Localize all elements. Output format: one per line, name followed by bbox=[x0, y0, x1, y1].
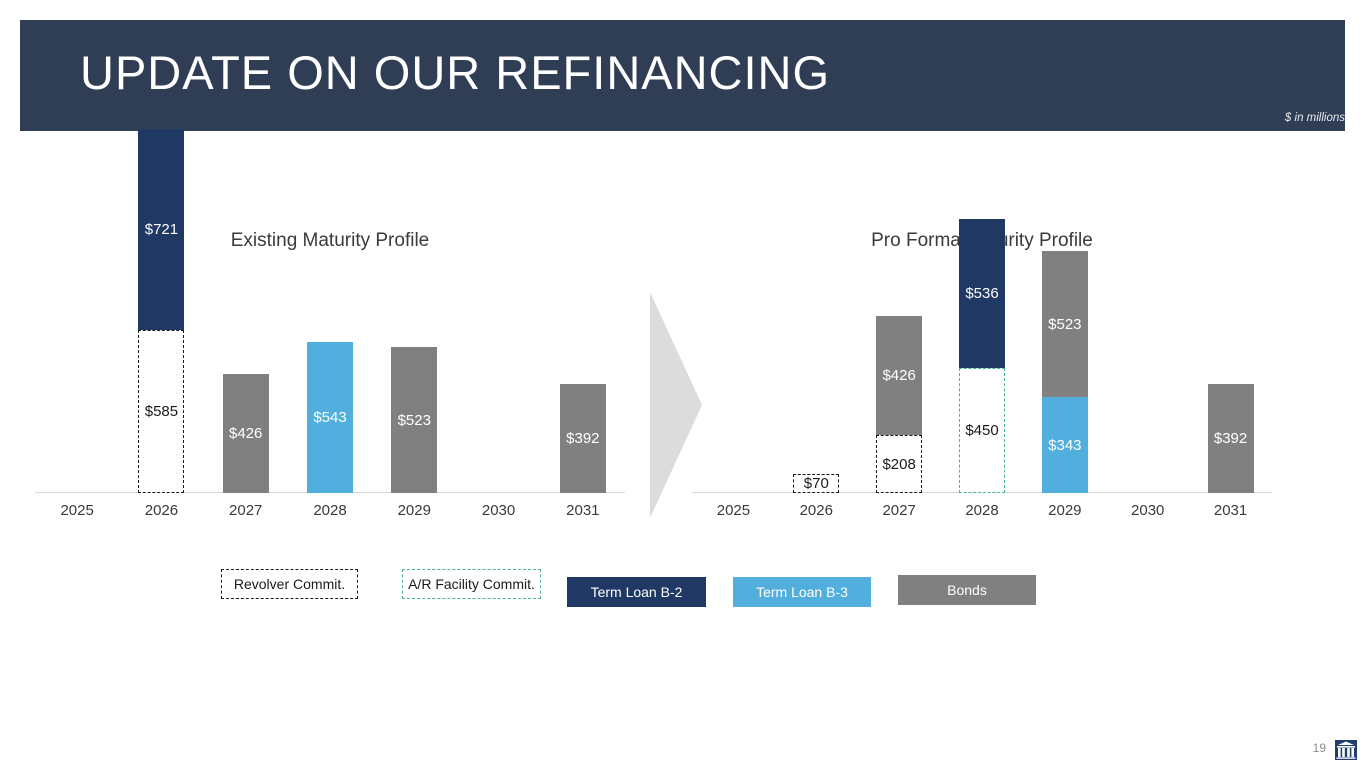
legend-item-term-loan-b-3[interactable]: Term Loan B-3 bbox=[733, 577, 871, 607]
bar-segment-2028-term-loan-b-2[interactable]: $536 bbox=[959, 219, 1005, 368]
bar-segment-2027-bonds[interactable]: $426 bbox=[876, 316, 922, 435]
legend-item-label: Term Loan B-2 bbox=[591, 584, 683, 600]
bar-segment-2028-term-loan-b-3[interactable]: $543 bbox=[307, 342, 353, 493]
bar-category-2028: $5432028 bbox=[290, 260, 370, 493]
bar-segment-2027-revolver-commit[interactable]: $208 bbox=[876, 435, 922, 493]
bar-category-2027: $208$4262027 bbox=[859, 260, 939, 493]
bar-value-label: $208 bbox=[882, 457, 915, 472]
x-axis-tick-2028: 2028 bbox=[290, 502, 370, 519]
x-axis-tick-2030: 2030 bbox=[1108, 502, 1188, 519]
bar-value-label: $536 bbox=[965, 286, 998, 301]
bar-category-2031: $3922031 bbox=[1191, 260, 1271, 493]
legend-item-bonds[interactable]: Bonds bbox=[898, 575, 1036, 605]
x-axis-tick-2026: 2026 bbox=[121, 502, 201, 519]
bar-value-label: $70 bbox=[804, 476, 829, 491]
bar-segment-2031-bonds[interactable]: $392 bbox=[560, 384, 606, 493]
page-title: UPDATE ON OUR REFINANCING bbox=[80, 48, 830, 97]
bar-stack-2031[interactable]: $392 bbox=[560, 384, 606, 493]
slide: UPDATE ON OUR REFINANCING $ in millions … bbox=[0, 0, 1365, 768]
bar-value-label: $721 bbox=[145, 222, 178, 237]
bar-value-label: $523 bbox=[398, 413, 431, 428]
bar-value-label: $543 bbox=[313, 410, 346, 425]
bar-stack-2027[interactable]: $426 bbox=[223, 374, 269, 493]
bar-segment-2026-revolver-commit[interactable]: $70 bbox=[793, 474, 839, 493]
bar-stack-2028[interactable]: $543 bbox=[307, 342, 353, 493]
bar-category-2025: 2025 bbox=[37, 260, 117, 493]
bar-segment-2027-bonds[interactable]: $426 bbox=[223, 374, 269, 493]
bar-category-2025: 2025 bbox=[693, 260, 773, 493]
bar-category-2026: $585$7212026 bbox=[121, 260, 201, 493]
bar-value-label: $392 bbox=[566, 431, 599, 446]
x-axis-tick-2026: 2026 bbox=[776, 502, 856, 519]
legend-item-term-loan-b-2[interactable]: Term Loan B-2 bbox=[567, 577, 706, 607]
page-number: 19 bbox=[1313, 741, 1326, 755]
bar-value-label: $426 bbox=[882, 368, 915, 383]
bar-segment-2031-bonds[interactable]: $392 bbox=[1208, 384, 1254, 493]
x-axis-tick-2027: 2027 bbox=[206, 502, 286, 519]
bar-category-2029: $343$5232029 bbox=[1025, 260, 1105, 493]
bar-category-2028: $450$5362028 bbox=[942, 260, 1022, 493]
bar-segment-2029-bonds[interactable]: $523 bbox=[1042, 251, 1088, 397]
company-logo-icon bbox=[1335, 740, 1357, 760]
bar-segment-2029-term-loan-b-3[interactable]: $343 bbox=[1042, 397, 1088, 493]
bar-category-2026: $702026 bbox=[776, 260, 856, 493]
bar-category-2027: $4262027 bbox=[206, 260, 286, 493]
plot-area: 2025$702026$208$4262027$450$5362028$343$… bbox=[692, 260, 1272, 493]
bar-stack-2026[interactable]: $70 bbox=[793, 474, 839, 493]
bar-stack-2031[interactable]: $392 bbox=[1208, 384, 1254, 493]
legend-item-label: Bonds bbox=[947, 582, 987, 598]
bar-value-label: $343 bbox=[1048, 438, 1081, 453]
x-axis-tick-2025: 2025 bbox=[37, 502, 117, 519]
legend-item-label: Revolver Commit. bbox=[234, 576, 345, 592]
bar-stack-2028[interactable]: $450$536 bbox=[959, 219, 1005, 493]
bar-segment-2026-term-loan-b-2[interactable]: $721 bbox=[138, 129, 184, 330]
x-axis-tick-2028: 2028 bbox=[942, 502, 1022, 519]
x-axis-tick-2030: 2030 bbox=[459, 502, 539, 519]
legend-item-a-r-facility-commit[interactable]: A/R Facility Commit. bbox=[402, 569, 541, 599]
plot-area: 2025$585$7212026$4262027$5432028$5232029… bbox=[35, 260, 625, 493]
chart-title: Existing Maturity Profile bbox=[35, 230, 625, 252]
bar-value-label: $450 bbox=[965, 423, 998, 438]
legend-item-revolver-commit[interactable]: Revolver Commit. bbox=[221, 569, 358, 599]
legend-item-label: Term Loan B-3 bbox=[756, 584, 848, 600]
legend-item-label: A/R Facility Commit. bbox=[408, 576, 535, 592]
x-axis-tick-2031: 2031 bbox=[1191, 502, 1271, 519]
legend: Revolver Commit.A/R Facility Commit.Term… bbox=[0, 569, 1365, 605]
bar-category-2029: $5232029 bbox=[374, 260, 454, 493]
bar-stack-2027[interactable]: $208$426 bbox=[876, 316, 922, 493]
bar-value-label: $392 bbox=[1214, 431, 1247, 446]
bar-stack-2029[interactable]: $523 bbox=[391, 347, 437, 493]
bar-category-2030: 2030 bbox=[1108, 260, 1188, 493]
bar-segment-2026-revolver-commit[interactable]: $585 bbox=[138, 330, 184, 493]
bar-value-label: $585 bbox=[145, 404, 178, 419]
bar-segment-2028-a-r-facility-commit[interactable]: $450 bbox=[959, 368, 1005, 493]
bar-category-2030: 2030 bbox=[459, 260, 539, 493]
bar-category-2031: $3922031 bbox=[543, 260, 623, 493]
bar-stack-2029[interactable]: $343$523 bbox=[1042, 251, 1088, 493]
x-axis-tick-2029: 2029 bbox=[1025, 502, 1105, 519]
x-axis-tick-2029: 2029 bbox=[374, 502, 454, 519]
bar-value-label: $426 bbox=[229, 426, 262, 441]
bar-segment-2029-bonds[interactable]: $523 bbox=[391, 347, 437, 493]
bar-value-label: $523 bbox=[1048, 317, 1081, 332]
x-axis-tick-2027: 2027 bbox=[859, 502, 939, 519]
x-axis-tick-2025: 2025 bbox=[693, 502, 773, 519]
bar-stack-2026[interactable]: $585$721 bbox=[138, 129, 184, 493]
units-note: $ in millions bbox=[1285, 112, 1345, 124]
x-axis-tick-2031: 2031 bbox=[543, 502, 623, 519]
